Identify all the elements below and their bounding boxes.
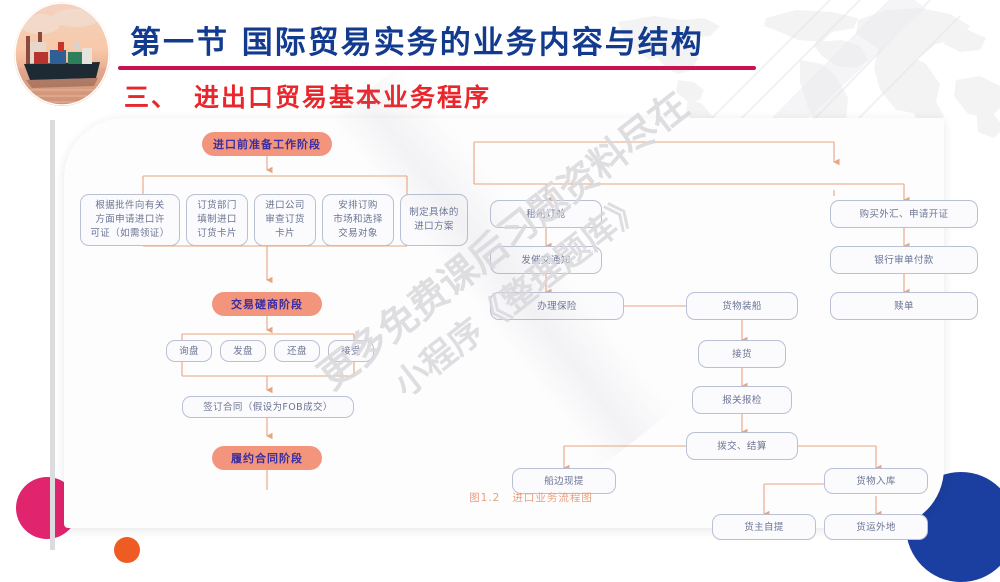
node-sign-contract: 签订合同（假设为FOB成交） (182, 396, 354, 418)
node-buy-fx-lc: 购买外汇、申请开证 (830, 200, 978, 228)
node-urge-notice: 发催交通知 (490, 246, 602, 274)
node-import-plan: 制定具体的 进口方案 (400, 194, 468, 246)
stage-prepare: 进口前准备工作阶段 (202, 132, 332, 156)
node-inquiry: 询盘 (166, 340, 212, 362)
node-market-select: 安排订购 市场和选择 交易对象 (322, 194, 394, 246)
figure-title: 进口业务流程图 (512, 492, 593, 504)
node-review-card: 进口公司 审查订货 卡片 (254, 194, 316, 246)
node-bank-pay: 银行审单付款 (830, 246, 978, 274)
section-heading: 三、进出口贸易基本业务程序 (124, 78, 491, 114)
node-import-license: 根据批件向有关 方面申请进口许 可证（如需领证） (80, 194, 180, 246)
slide-header: 第一节 国际贸易实务的业务内容与结构 三、进出口贸易基本业务程序 (0, 0, 1000, 118)
node-order-card: 订货部门 填制进口 订货卡片 (186, 194, 248, 246)
import-business-flowchart: 进口前准备工作阶段 交易磋商阶段 履约合同阶段 根据批件向有关 方面申请进口许 … (64, 118, 944, 528)
figure-number: 图1.2 (469, 492, 500, 504)
decor-circle-orange (114, 537, 140, 563)
section-title-text: 进出口贸易基本业务程序 (194, 83, 491, 112)
node-counter-offer: 还盘 (274, 340, 320, 362)
left-accent-bar (50, 120, 55, 550)
section-number: 三、 (124, 83, 178, 112)
node-redeem-docs: 赎单 (830, 292, 978, 320)
container-ship-photo-icon (14, 2, 110, 106)
node-ship-outbound: 货运外地 (824, 514, 928, 540)
title-divider (118, 66, 756, 70)
node-acceptance: 接受 (328, 340, 374, 362)
node-settle: 拨交、结算 (686, 432, 798, 460)
flowchart-connectors (64, 118, 944, 528)
node-loading: 货物装船 (686, 292, 798, 320)
figure-caption: 图1.2进口业务流程图 (416, 490, 646, 505)
node-receive: 接货 (698, 340, 786, 368)
node-customs: 报关报检 (692, 386, 792, 414)
node-warehouse: 货物入库 (824, 468, 928, 494)
stage-negotiate: 交易磋商阶段 (212, 292, 322, 316)
node-insurance: 办理保险 (490, 292, 624, 320)
node-owner-pickup: 货主自提 (712, 514, 816, 540)
node-charter-booking: 租船订舱 (490, 200, 602, 228)
node-offer: 发盘 (220, 340, 266, 362)
stage-perform: 履约合同阶段 (212, 446, 322, 470)
page-title: 第一节 国际贸易实务的业务内容与结构 (130, 17, 704, 62)
